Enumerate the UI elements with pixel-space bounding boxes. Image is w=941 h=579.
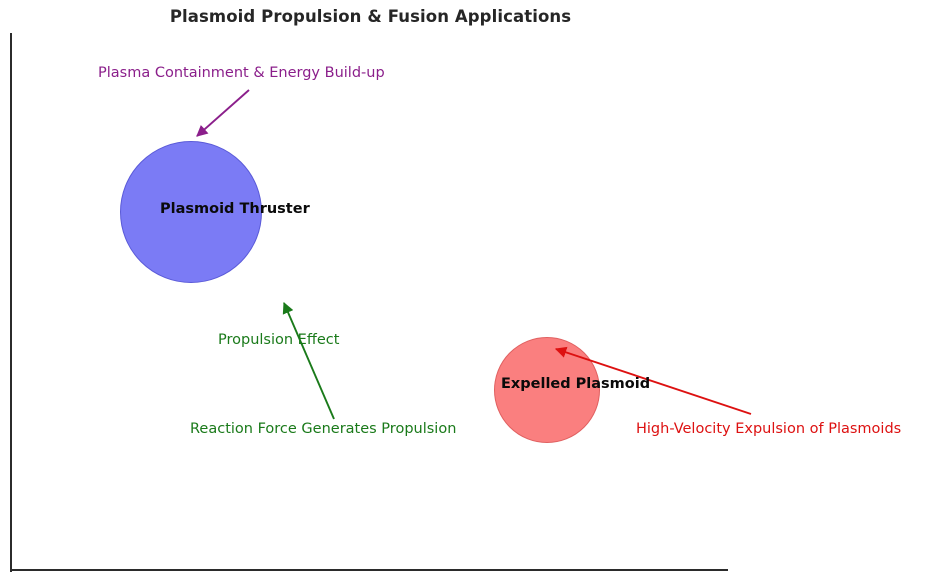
annotation-reaction-force: Reaction Force Generates Propulsion bbox=[190, 421, 456, 437]
page-title: Plasmoid Propulsion & Fusion Application… bbox=[0, 7, 741, 26]
annotation-high-velocity-expulsion: High-Velocity Expulsion of Plasmoids bbox=[636, 421, 901, 437]
arrow-plasma-containment bbox=[197, 90, 249, 136]
figure-canvas: Plasmoid Propulsion & Fusion Application… bbox=[0, 0, 941, 579]
node-label-expelled-plasmoid: Expelled Plasmoid bbox=[501, 376, 650, 392]
node-label-plasmoid-thruster: Plasmoid Thruster bbox=[160, 201, 310, 217]
arrow-reaction-force bbox=[284, 303, 334, 419]
arrow-layer bbox=[0, 0, 941, 579]
axis-spine-bottom bbox=[10, 569, 728, 571]
annotation-plasma-containment: Plasma Containment & Energy Build-up bbox=[98, 65, 385, 81]
axis-spine-left bbox=[10, 33, 12, 572]
annotation-propulsion-effect: Propulsion Effect bbox=[218, 332, 339, 348]
